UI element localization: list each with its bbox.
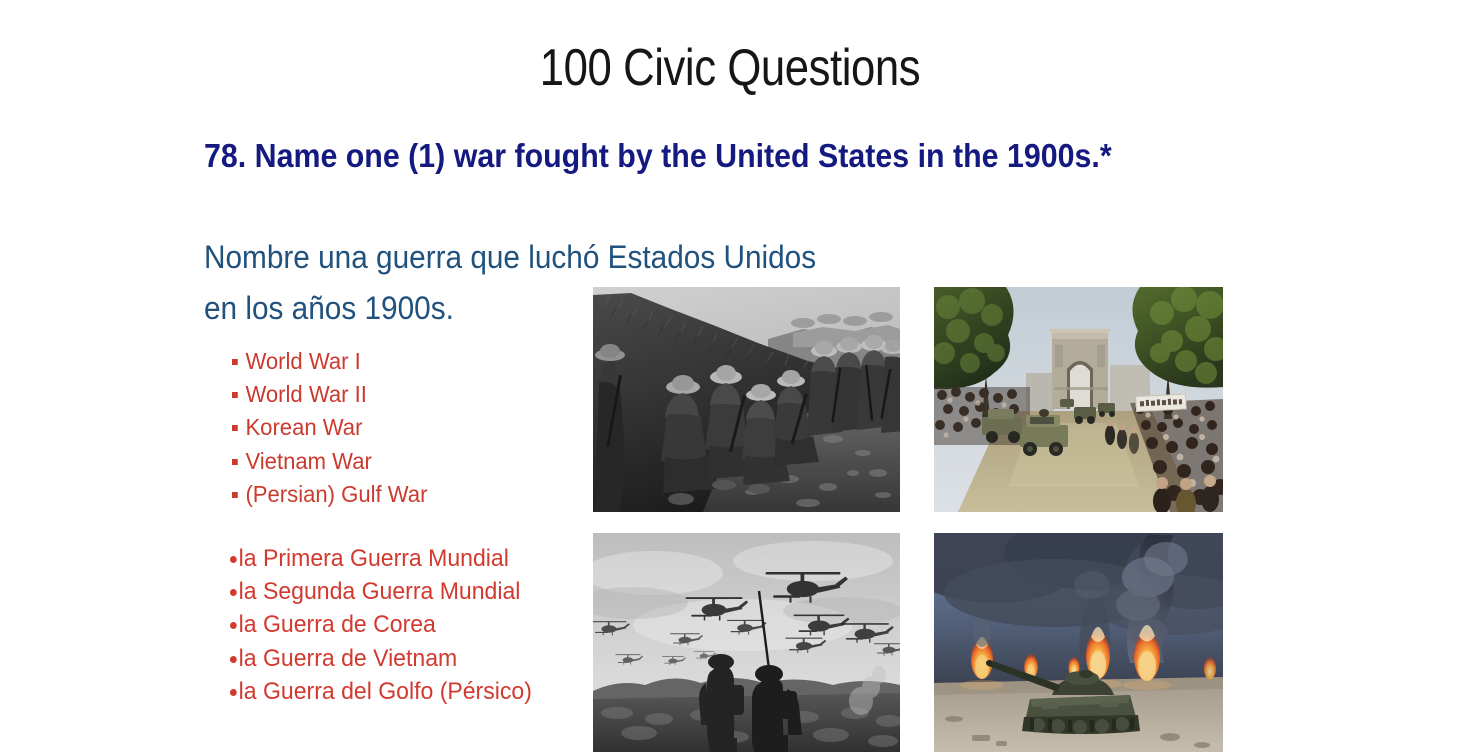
square-bullet-icon: [232, 425, 238, 431]
answer-list-english: World War I World War II Korean War Viet…: [232, 345, 582, 511]
slide-canvas: 100 Civic Questions 78. Name one (1) war…: [0, 0, 1460, 752]
list-item: la Primera Guerra Mundial: [230, 542, 585, 575]
photo-world-war-two: [934, 287, 1223, 512]
square-bullet-icon: [232, 359, 238, 365]
list-item: la Guerra de Corea: [230, 608, 585, 641]
photo-vietnam-war: [593, 533, 900, 752]
world-war-one-trench-illustration: [593, 287, 900, 512]
photo-gulf-war: [934, 533, 1223, 752]
photo-world-war-one: [593, 287, 900, 512]
list-item-label: la Guerra del Golfo (Pérsico): [239, 678, 532, 705]
list-item-label: World War I: [245, 348, 360, 374]
list-item: la Segunda Guerra Mundial: [230, 575, 585, 608]
list-item-label: (Persian) Gulf War: [245, 481, 427, 507]
list-item: Vietnam War: [232, 445, 568, 478]
square-bullet-icon: [232, 459, 238, 465]
list-item: World War II: [232, 378, 568, 411]
square-bullet-icon: [232, 492, 238, 498]
round-bullet-icon: [230, 589, 237, 596]
list-item: la Guerra de Vietnam: [230, 642, 585, 675]
list-item-label: la Segunda Guerra Mundial: [239, 578, 521, 605]
list-item-label: la Primera Guerra Mundial: [239, 545, 509, 572]
answer-list-spanish: la Primera Guerra Mundial la Segunda Gue…: [230, 542, 600, 708]
round-bullet-icon: [230, 556, 237, 563]
page-title: 100 Civic Questions: [117, 36, 1343, 100]
list-item-label: la Guerra de Vietnam: [239, 645, 458, 672]
round-bullet-icon: [230, 622, 237, 629]
liberation-of-paris-illustration: [934, 287, 1223, 512]
list-item-label: la Guerra de Corea: [239, 611, 436, 638]
list-item-label: Vietnam War: [245, 448, 371, 474]
question-text-english: 78. Name one (1) war fought by the Unite…: [204, 130, 1133, 181]
list-item-label: Korean War: [245, 414, 362, 440]
question-spanish-line-1: Nombre una guerra que luchó Estados Unid…: [204, 232, 985, 283]
list-item: World War I: [232, 345, 568, 378]
round-bullet-icon: [230, 656, 237, 663]
list-item: (Persian) Gulf War: [232, 478, 568, 511]
gulf-war-tank-oil-fires-illustration: [934, 533, 1223, 752]
round-bullet-icon: [230, 689, 237, 696]
list-item: Korean War: [232, 411, 568, 444]
vietnam-war-helicopters-illustration: [593, 533, 900, 752]
square-bullet-icon: [232, 392, 238, 398]
list-item-label: World War II: [245, 381, 366, 407]
list-item: la Guerra del Golfo (Pérsico): [230, 675, 585, 708]
